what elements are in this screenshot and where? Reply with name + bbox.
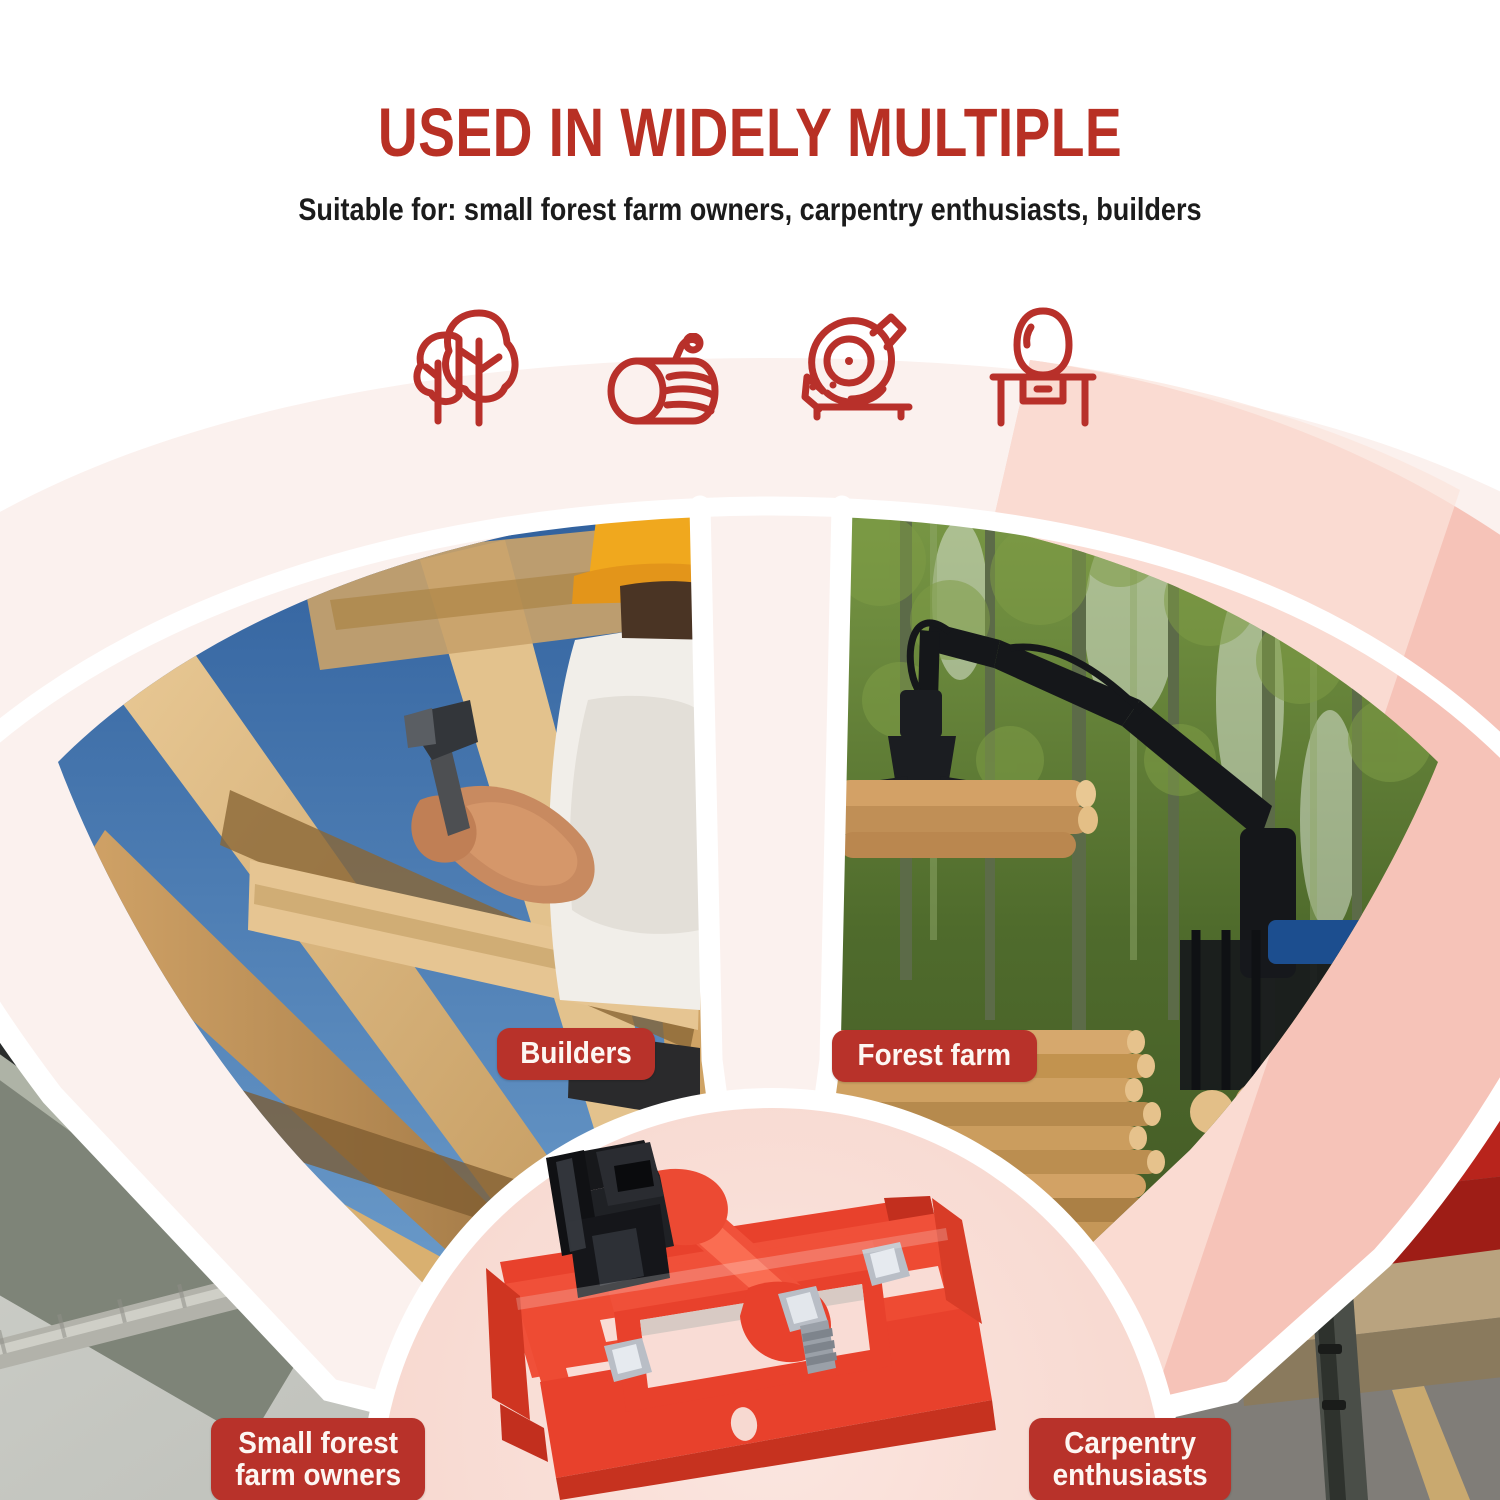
usage-icon-row xyxy=(0,305,1500,427)
trees-icon xyxy=(401,305,529,427)
badge-small-forest-farm-owners[interactable]: Small forest farm owners xyxy=(211,1418,425,1500)
page-subtitle: Suitable for: small forest farm owners, … xyxy=(105,167,1395,227)
badge-small-line-2: farm owners xyxy=(235,1459,401,1491)
miter-saw-icon xyxy=(797,313,913,427)
badge-builders-line-1: Builders xyxy=(520,1037,632,1069)
badge-carpentry-enthusiasts[interactable]: Carpentry enthusiasts xyxy=(1029,1418,1231,1500)
badge-small-line-1: Small forest xyxy=(235,1427,401,1459)
page-title: USED IN WIDELY MULTIPLE xyxy=(150,0,1350,167)
vanity-table-icon xyxy=(987,305,1099,427)
badge-forest-farm-line-1: Forest farm xyxy=(858,1039,1011,1071)
promo-graphic: USED IN WIDELY MULTIPLE Suitable for: sm… xyxy=(0,0,1500,1500)
badge-carpentry-line-1: Carpentry xyxy=(1053,1427,1208,1459)
badge-builders[interactable]: Builders xyxy=(497,1028,655,1080)
log-axe-icon xyxy=(603,333,723,427)
suspended-logs xyxy=(826,780,1098,858)
badge-carpentry-line-2: enthusiasts xyxy=(1053,1459,1208,1491)
header-block: USED IN WIDELY MULTIPLE Suitable for: sm… xyxy=(0,0,1500,227)
badge-forest-farm[interactable]: Forest farm xyxy=(832,1030,1037,1082)
